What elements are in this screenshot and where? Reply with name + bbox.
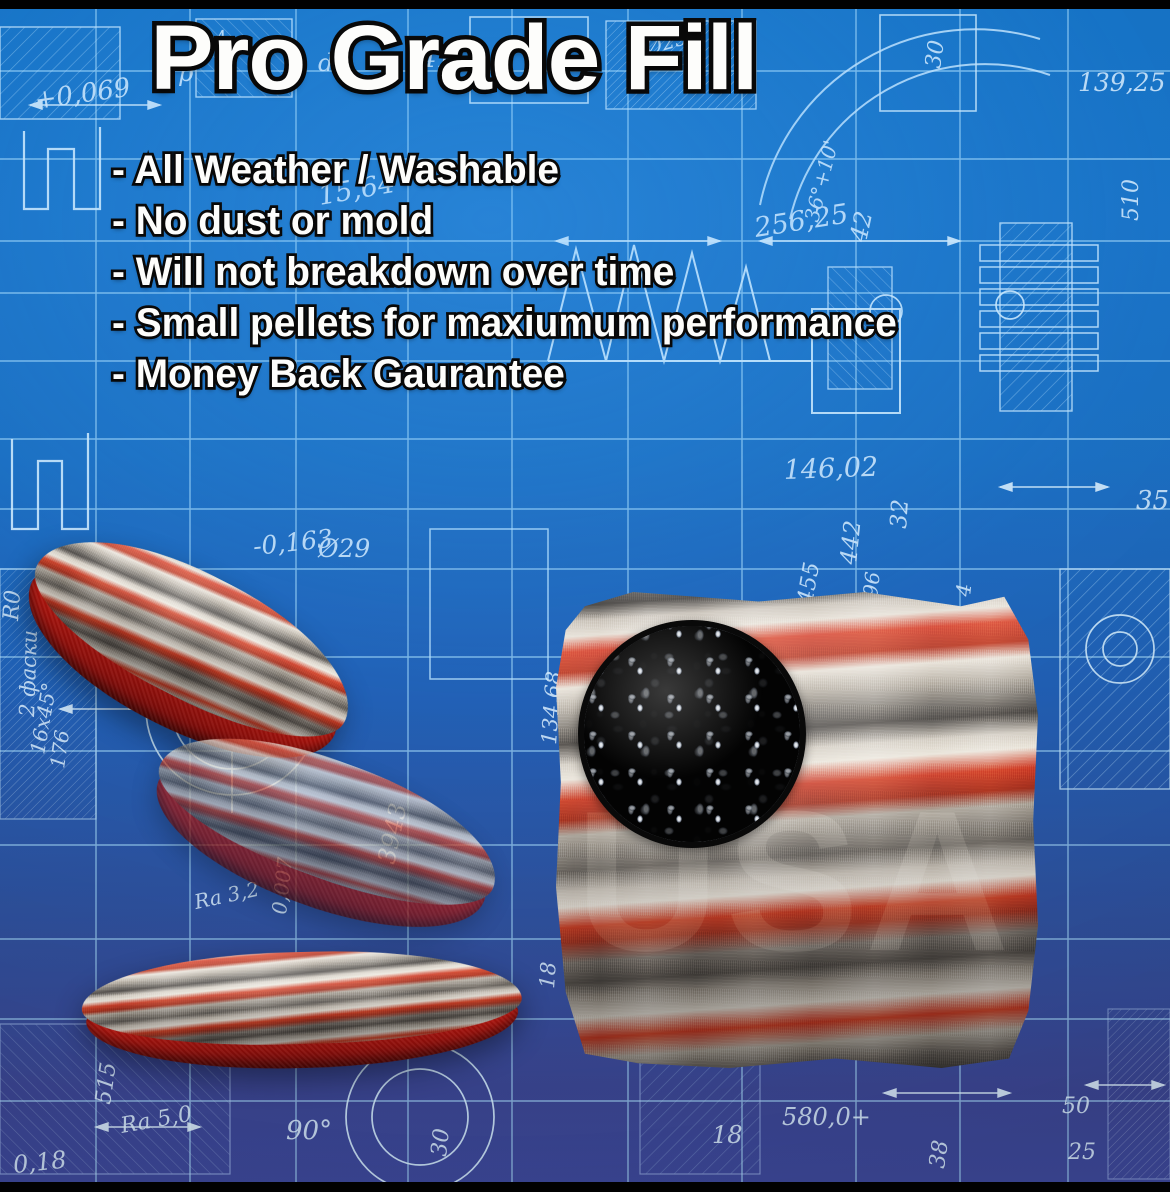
svg-text:25: 25 [1067, 1140, 1096, 1165]
pellet-texture [584, 626, 800, 842]
svg-text:18: 18 [712, 1121, 743, 1149]
list-item: - All Weather / Washable [112, 145, 1138, 196]
svg-text:18: 18 [535, 961, 561, 989]
svg-text:50: 50 [1062, 1094, 1090, 1119]
svg-text:35: 35 [1136, 486, 1169, 516]
promo-graphic: 41 139,25 +0,069 15,64 256,25 42 36°+10'… [0, 0, 1170, 1192]
svg-text:38: 38 [925, 1139, 954, 1170]
top-letterbox-bar [0, 0, 1170, 9]
marketing-copy: Pro Grade Fill - All Weather / Washable … [0, 9, 1170, 400]
bottom-letterbox-bar [0, 1182, 1170, 1192]
svg-text:30: 30 [427, 1127, 455, 1157]
bag-body [81, 946, 524, 1075]
svg-text:4: 4 [951, 582, 976, 598]
list-item: - Small pellets for maxiumum performance [112, 298, 1138, 349]
list-item: - Money Back Gaurantee [112, 349, 1138, 400]
svg-text:0,18: 0,18 [12, 1146, 68, 1179]
list-item: - No dust or mold [112, 196, 1138, 247]
svg-text:32: 32 [886, 498, 914, 529]
svg-text:580,0+: 580,0+ [782, 1103, 871, 1131]
svg-text:Ø29: Ø29 [317, 534, 370, 563]
svg-text:442: 442 [836, 519, 867, 566]
pellet-closeup-inset [578, 620, 806, 848]
page-title: Pro Grade Fill [0, 9, 1170, 107]
cornhole-bag-flat-bottom [81, 946, 524, 1075]
bag-face [81, 946, 523, 1050]
bag-shading [81, 946, 523, 1050]
feature-list: - All Weather / Washable - No dust or mo… [0, 145, 1170, 400]
svg-text:146,02: 146,02 [783, 452, 879, 486]
list-item: - Will not breakdown over time [112, 247, 1138, 298]
svg-text:90°: 90° [286, 1116, 332, 1146]
